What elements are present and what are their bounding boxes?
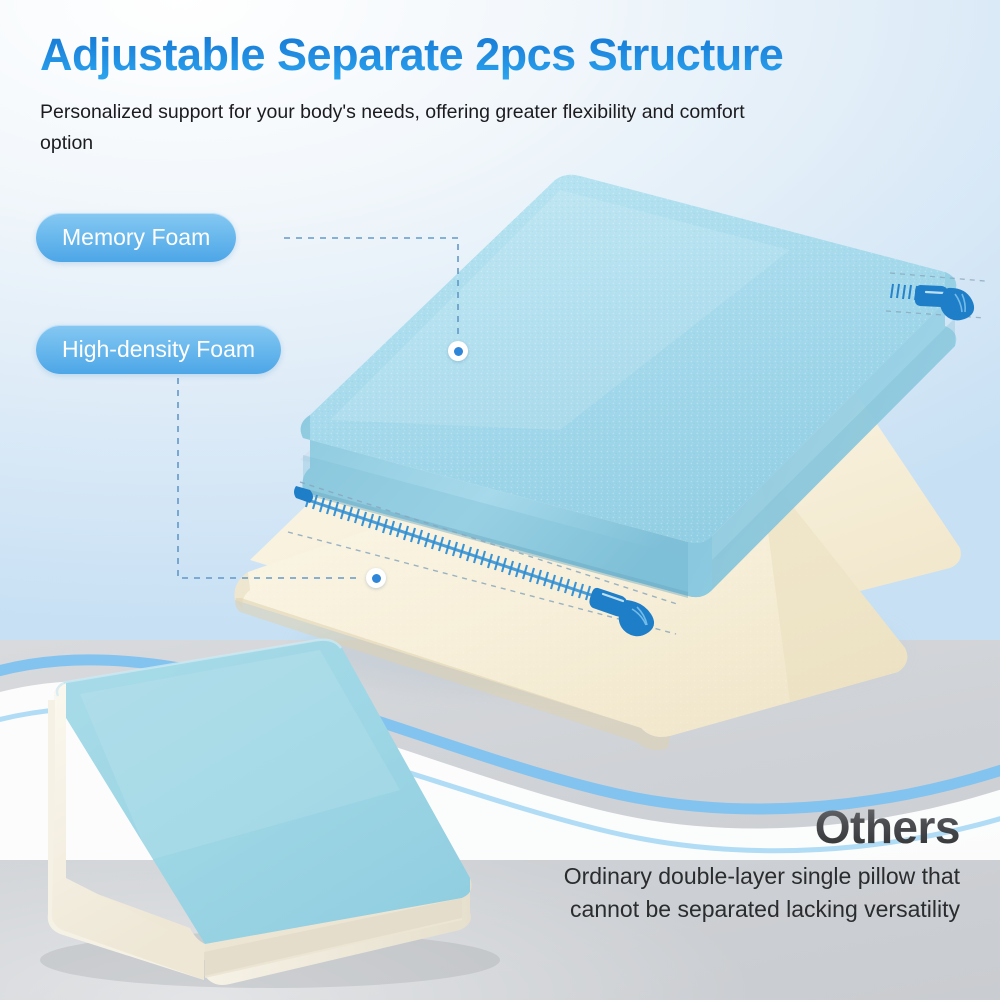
single-wedge-pillow [40,640,500,988]
comparison-title: Others [540,800,960,854]
callout-dot-memory-foam[interactable] [448,341,468,361]
label-badge-memory-foam[interactable]: Memory Foam [36,213,236,262]
infographic-canvas: Adjustable Separate 2pcs Structure Perso… [0,0,1000,1000]
label-badge-high-density-foam[interactable]: High-density Foam [36,325,281,374]
page-subtitle: Personalized support for your body's nee… [40,97,760,159]
callout-dot-high-density-foam[interactable] [366,568,386,588]
comparison-description: Ordinary double-layer single pillow that… [530,860,960,927]
page-title: Adjustable Separate 2pcs Structure [40,30,940,80]
